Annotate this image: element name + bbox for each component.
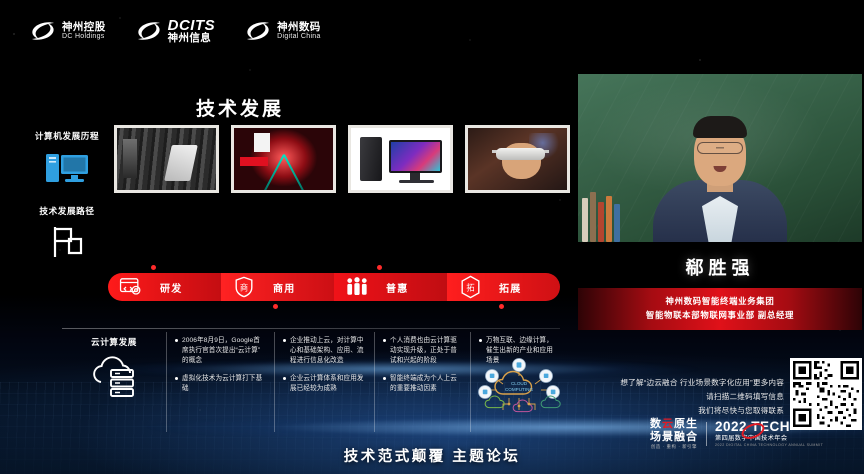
qr-promo-text: 想了解“边云融合 行业场景数字化应用”更多内容 请扫描二维码填写信息 我们将尽快… [588, 376, 784, 418]
slide-title: 技术发展 [196, 94, 284, 121]
speaker-title-banner: 神州数码智能终端业务集团 智能物联本部物联网事业部 副总经理 [578, 288, 862, 330]
logo-label-en: Digital China [277, 33, 321, 41]
swoosh-icon [245, 21, 271, 41]
bullet-columns: 云计算发展 2006年8月9日，Google首席执行官首次提出“云计算”的概念 … [62, 332, 562, 432]
conf-year-tech: 2022 TECH [715, 419, 790, 434]
bullet-item: 2006年8月9日，Google首席执行官首次提出“云计算”的概念 [175, 336, 266, 367]
bullet-item: 智能终端成为个人上云的重要推动因素 [383, 374, 462, 394]
forum-title-text: 技术范式颠覆 主题论坛 [344, 449, 521, 465]
cloud-section-title: 云计算发展 [70, 336, 158, 348]
svg-text:拓: 拓 [466, 283, 474, 293]
cloud-section-label: 云计算发展 [62, 332, 166, 432]
row-label-tech-path: 技术发展路径 [24, 205, 110, 261]
timeline-stage-label: 拓展 [499, 280, 521, 295]
logo-label-cn: 神州控股 [62, 22, 106, 34]
speaker-title-line-2: 智能物联本部物联网事业部 副总经理 [582, 309, 858, 323]
slide-content: 技术发展 计算机发展历程 技术发展路径 [0, 70, 568, 370]
bookshelf-decor [582, 190, 622, 242]
bullet-item: 企业云计算体系和应用发展已经较为成熟 [283, 374, 366, 394]
conf-subtitle-cn: 第四届数字中国技术年会 [715, 436, 823, 443]
code-gear-icon [116, 277, 146, 297]
path-flag-icon [24, 223, 110, 261]
swoosh-icon [30, 21, 56, 41]
brand-logo-bar: 神州控股 DC Holdings DCITS 神州信息 神州数码 Digital… [30, 18, 321, 45]
bullet-column-3: 个人消费也由云计算驱动实现升级，正处于普试和兴起的阶段 智能终端成为个人上云的重… [374, 332, 470, 432]
conference-logo-right: 2022 TECH 第四届数字中国技术年会 2022 DIGITAL CHINA… [715, 420, 823, 448]
timeline-stage-commercial[interactable]: 商 商用 [221, 273, 334, 301]
photo-thumbnail-row [114, 125, 570, 193]
logo-digital-china: 神州数码 Digital China [245, 21, 321, 41]
timeline-marker-dot [273, 304, 278, 309]
photo-tianhe-supercomputer [231, 125, 336, 193]
photo-desktop-pc [348, 125, 453, 193]
svg-text:商: 商 [240, 283, 248, 293]
bullet-item: 虚拟化技术为云计算打下基础 [175, 374, 266, 394]
speaker-name: 郗胜强 [578, 254, 862, 280]
row-label-text: 计算机发展历程 [24, 130, 110, 142]
logo-label-cn: 神州信息 [168, 33, 216, 45]
logo-dcits: DCITS 神州信息 [136, 18, 216, 45]
conf-logo-line-2: 场景融合 [650, 431, 698, 443]
timeline-stage-label: 研发 [160, 280, 182, 295]
technology-timeline: 研发 商 商用 [108, 273, 560, 301]
photo-early-computer-room [114, 125, 219, 193]
logo-label-en: DCITS [168, 18, 216, 33]
speaker-panel: 郗胜强 神州数码智能终端业务集团 智能物联本部物联网事业部 副总经理 想了解“边… [578, 74, 862, 474]
section-divider [62, 328, 560, 329]
qr-text-line-2: 请扫描二维码填写信息 [588, 390, 784, 404]
conf-logo-char-2: 云 [662, 418, 674, 430]
timeline-marker-dot [377, 265, 382, 270]
qr-text-line-1: 想了解“边云融合 行业场景数字化应用”更多内容 [588, 376, 784, 390]
speaker-video-feed[interactable] [578, 74, 862, 242]
people-group-icon [342, 277, 372, 297]
bullet-item: 企业推动上云，对计算中心和基础架构、应用、流程进行信息化改造 [283, 336, 366, 367]
bullet-column-1: 2006年8月9日，Google首席执行官首次提出“云计算”的概念 虚拟化技术为… [166, 332, 274, 432]
cloud-server-icon [70, 356, 158, 400]
conf-logo-char-1: 数 [650, 418, 662, 430]
logo-label-cn: 神州数码 [277, 22, 321, 34]
desktop-computer-icon [24, 148, 110, 188]
row-label-text: 技术发展路径 [24, 205, 110, 217]
cloud-center-label-1: CLOUD [511, 381, 528, 386]
conference-logo-divider [706, 422, 707, 446]
conf-logo-char-3: 原生 [674, 418, 698, 430]
qr-text-line-3: 我们将尽快与您取得联系 [588, 404, 784, 418]
forum-title: 技术范式颠覆 主题论坛 [0, 445, 864, 466]
expand-hexagon-icon: 拓 [455, 275, 485, 299]
timeline-marker-dot [499, 304, 504, 309]
photo-vr-headset [465, 125, 570, 193]
timeline-stage-inclusive[interactable]: 普惠 [334, 273, 447, 301]
cloud-center-label-2: COMPUTING [505, 387, 533, 392]
bullet-item: 个人消费也由云计算驱动实现升级，正处于普试和兴起的阶段 [383, 336, 462, 367]
cloud-computing-diagram: CLOUD COMPUTING [473, 354, 565, 426]
row-label-computer-history: 计算机发展历程 [24, 130, 110, 188]
logo-dc-holdings: 神州控股 DC Holdings [30, 21, 106, 41]
swoosh-icon [136, 21, 162, 41]
bullet-column-4: 万物互联、边缘计算，催生出新的产业和应用场景 CLOUD COMPUTING [470, 332, 562, 432]
timeline-stage-label: 商用 [273, 280, 295, 295]
timeline-stage-label: 普惠 [386, 280, 408, 295]
timeline-marker-dot [151, 265, 156, 270]
timeline-stage-expansion[interactable]: 拓 拓展 [447, 273, 560, 301]
presentation-stage: 神州控股 DC Holdings DCITS 神州信息 神州数码 Digital… [0, 0, 864, 474]
shield-commerce-icon: 商 [229, 276, 259, 298]
speaker-figure [650, 120, 790, 242]
timeline-stage-rd[interactable]: 研发 [108, 273, 221, 301]
speaker-title-line-1: 神州数码智能终端业务集团 [582, 295, 858, 309]
bullet-column-2: 企业推动上云，对计算中心和基础架构、应用、流程进行信息化改造 企业云计算体系和应… [274, 332, 374, 432]
logo-label-en: DC Holdings [62, 33, 106, 41]
